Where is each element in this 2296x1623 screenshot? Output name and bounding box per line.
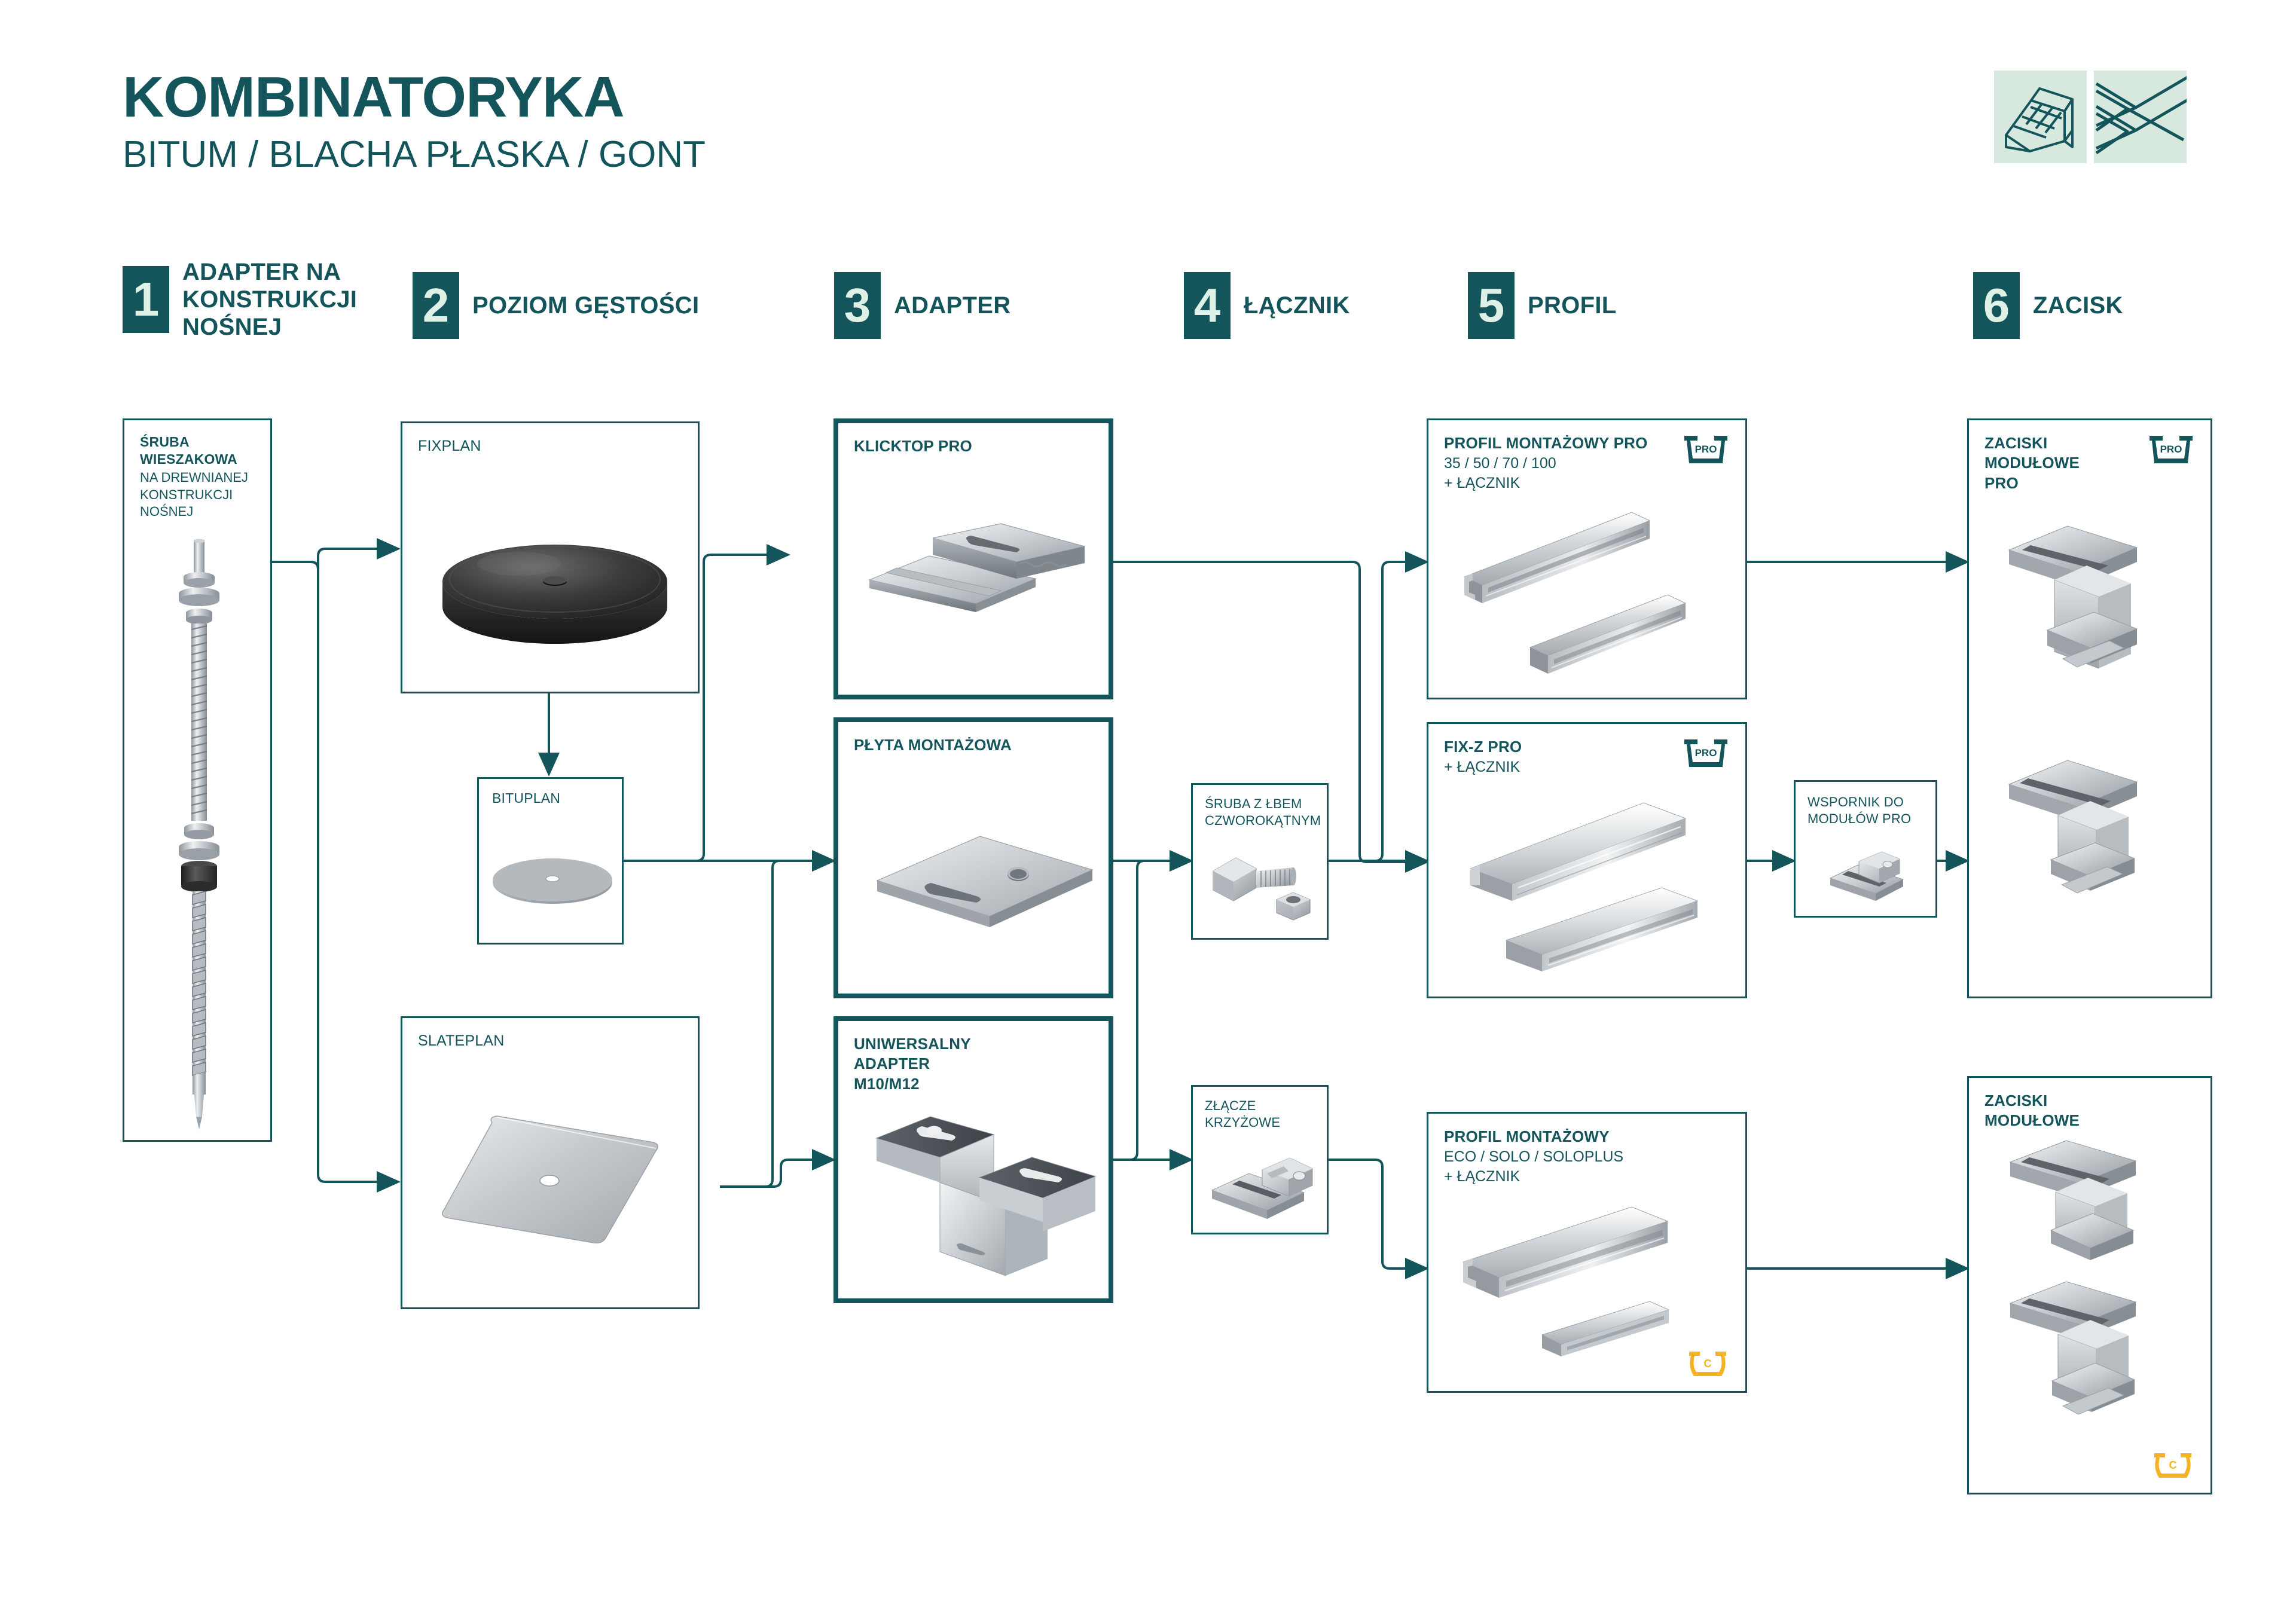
- fix-z-pro-profiles-image: [1446, 796, 1727, 981]
- cross-connector-image: [1205, 1144, 1321, 1224]
- svg-text:C: C: [2169, 1459, 2177, 1471]
- card-zlacze-krzyzowe[interactable]: ZŁĄCZE KRZYŻOWE: [1191, 1085, 1329, 1234]
- slateplan-sheet-image: [426, 1096, 683, 1275]
- step-2-label: POZIOM GĘSTOŚCI: [472, 292, 699, 319]
- card-profil-montazowy[interactable]: PROFIL MONTAŻOWY ECO / SOLO / SOLOPLUS +…: [1427, 1112, 1747, 1393]
- hanger-bolt-image: [154, 534, 244, 1132]
- card-subtitle: NA DREWNIANEJ KONSTRUKCJI NOŚNEJ: [140, 469, 258, 521]
- page-title: KOMBINATORYKA: [123, 69, 624, 126]
- card-sruba-wieszakowa[interactable]: ŚRUBA WIESZAKOWA NA DREWNIANEJ KONSTRUKC…: [123, 418, 272, 1142]
- card-title: PROFIL MONTAŻOWY PRO: [1444, 433, 1680, 453]
- universal-adapter-image: [868, 1099, 1101, 1284]
- card-uniwersalny-adapter[interactable]: UNIWERSALNY ADAPTER M10/M12: [833, 1016, 1113, 1303]
- card-title: PROFIL MONTAŻOWY: [1444, 1127, 1680, 1147]
- card-title: WSPORNIK DO MODUŁÓW PRO: [1808, 794, 1928, 827]
- card-klicktop-pro[interactable]: KLICKTOP PRO: [833, 418, 1113, 699]
- svg-text:PRO: PRO: [2160, 444, 2182, 455]
- step-6-number: 6: [1973, 272, 2020, 339]
- square-head-bolt-image: [1204, 845, 1320, 931]
- card-title: ZŁĄCZE KRZYŻOWE: [1205, 1098, 1320, 1131]
- card-plyta-montazowa[interactable]: PŁYTA MONTAŻOWA: [833, 717, 1113, 998]
- klicktop-pro-image: [862, 489, 1101, 626]
- rail-pro-badge-icon: PRO: [1680, 432, 1732, 467]
- card-title: ZACISKI MODUŁOWE PRO: [1984, 433, 2145, 493]
- card-title: UNIWERSALNY ADAPTER M10/M12: [854, 1034, 1043, 1094]
- step-2: 2 POZIOM GĘSTOŚCI: [413, 272, 699, 339]
- step-5: 5 PROFIL: [1468, 272, 1616, 339]
- card-zaciski-modulowe[interactable]: ZACISKI MODUŁOWE C: [1967, 1076, 2212, 1494]
- card-subtitle: + ŁĄCZNIK: [1444, 757, 1680, 777]
- bituplan-disc-image: [490, 836, 615, 925]
- step-4-label: ŁĄCZNIK: [1244, 292, 1350, 319]
- step-3-label: ADAPTER: [894, 292, 1010, 319]
- card-sruba-z-lbem[interactable]: ŚRUBA Z ŁBEM CZWOROKĄTNYM: [1191, 783, 1329, 940]
- card-title: FIXPLAN: [418, 436, 632, 456]
- step-3-number: 3: [834, 272, 881, 339]
- card-profil-montazowy-pro[interactable]: PROFIL MONTAŻOWY PRO 35 / 50 / 70 / 100 …: [1427, 418, 1747, 699]
- module-bracket-image: [1819, 845, 1918, 910]
- rail-c-badge-icon: C: [2150, 1450, 2196, 1482]
- step-1-label: ADAPTER NA KONSTRUKCJI NOŚNEJ: [182, 258, 357, 341]
- card-subtitle: 35 / 50 / 70 / 100 + ŁĄCZNIK: [1444, 454, 1680, 493]
- step-6: 6 ZACISK: [1973, 272, 2123, 339]
- card-fix-z-pro[interactable]: FIX-Z PRO + ŁĄCZNIK PRO: [1427, 722, 1747, 998]
- card-zaciski-modulowe-pro[interactable]: ZACISKI MODUŁOWE PRO PRO: [1967, 418, 2212, 998]
- card-subtitle: ECO / SOLO / SOLOPLUS + ŁĄCZNIK: [1444, 1147, 1680, 1186]
- card-wspornik[interactable]: WSPORNIK DO MODUŁÓW PRO: [1794, 780, 1937, 918]
- rail-pro-badge-icon: PRO: [2145, 432, 2197, 467]
- svg-text:PRO: PRO: [1695, 747, 1717, 759]
- svg-text:PRO: PRO: [1695, 444, 1717, 455]
- card-title: ŚRUBA Z ŁBEM CZWOROKĄTNYM: [1205, 796, 1318, 829]
- card-title: KLICKTOP PRO: [854, 436, 1043, 456]
- step-1-number: 1: [123, 266, 169, 333]
- page-subtitle: BITUM / BLACHA PŁASKA / GONT: [123, 136, 706, 173]
- card-title: FIX-Z PRO: [1444, 737, 1680, 757]
- step-2-number: 2: [413, 272, 459, 339]
- module-clamps-image: [1996, 1129, 2193, 1451]
- step-3: 3 ADAPTER: [834, 272, 1010, 339]
- solar-roof-icon: [1994, 71, 2087, 163]
- mounting-plate-image: [871, 815, 1098, 946]
- step-1: 1 ADAPTER NA KONSTRUKCJI NOŚNEJ: [123, 258, 357, 341]
- card-bituplan[interactable]: BITUPLAN: [477, 777, 624, 945]
- connector-wires: [0, 0, 2296, 1623]
- card-title: SLATEPLAN: [418, 1031, 632, 1050]
- step-4-number: 4: [1184, 272, 1231, 339]
- card-title: ZACISKI MODUŁOWE: [1984, 1091, 2145, 1131]
- logo: [1994, 71, 2187, 163]
- poster-canvas: KOMBINATORYKA BITUM / BLACHA PŁASKA / GO…: [0, 0, 2296, 1623]
- rail-lines-icon: [2094, 71, 2187, 163]
- rail-pro-badge-icon: PRO: [1680, 736, 1732, 771]
- pro-module-clamps-image: [1996, 513, 2193, 967]
- pro-rail-profiles-image: [1452, 510, 1721, 683]
- card-slateplan[interactable]: SLATEPLAN: [401, 1016, 700, 1309]
- fixplan-disc-image: [429, 492, 680, 665]
- step-4: 4 ŁĄCZNIK: [1184, 272, 1350, 339]
- card-fixplan[interactable]: FIXPLAN: [401, 421, 700, 693]
- step-5-label: PROFIL: [1528, 292, 1616, 319]
- step-6-label: ZACISK: [2033, 292, 2123, 319]
- eco-solo-rail-image: [1452, 1203, 1727, 1371]
- card-title: BITUPLAN: [492, 790, 556, 807]
- card-title: PŁYTA MONTAŻOWA: [854, 735, 1043, 755]
- card-title: ŚRUBA WIESZAKOWA: [140, 433, 258, 469]
- step-5-number: 5: [1468, 272, 1515, 339]
